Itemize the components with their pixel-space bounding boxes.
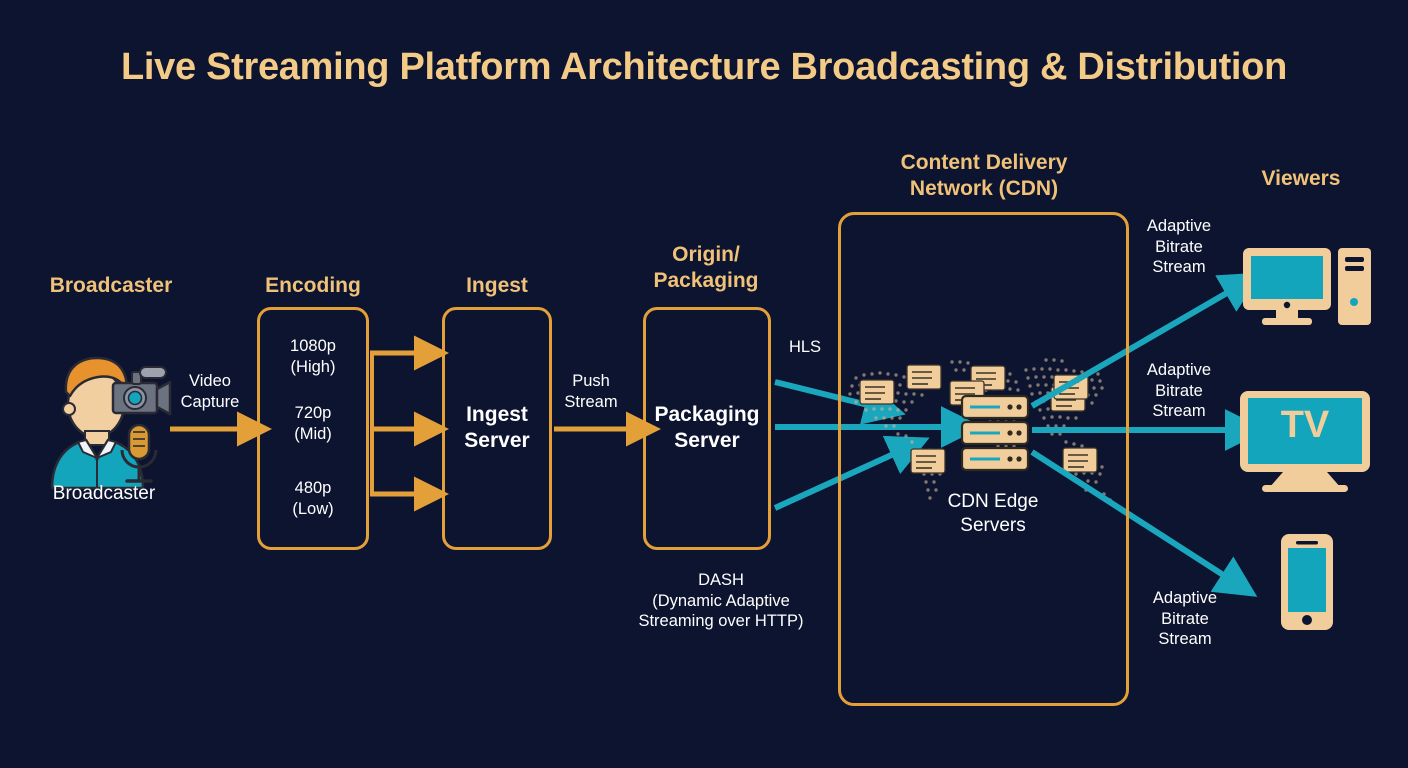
ingest-heading: Ingest [406, 273, 588, 299]
abs-tv-line1: Adaptive [1134, 360, 1224, 381]
cdn-heading: Content Delivery Network (CDN) [858, 150, 1110, 201]
push-stream-line1: Push [549, 371, 633, 392]
packaging-server-line1: Packaging [638, 402, 776, 428]
push-stream-label: Push Stream [549, 371, 633, 412]
desktop-computer-icon [1243, 248, 1371, 325]
adaptive-bitrate-stream-desktop: Adaptive Bitrate Stream [1134, 216, 1224, 278]
hls-label: HLS [774, 337, 836, 358]
packaging-server-label: Packaging Server [638, 402, 776, 454]
rendition-1080p: 1080p (High) [258, 336, 368, 377]
rendition-480p: 480p (Low) [258, 478, 368, 519]
video-capture-label: Video Capture [168, 371, 252, 412]
abs-tv-line2: Bitrate [1134, 381, 1224, 402]
broadcaster-caption: Broadcaster [14, 482, 194, 506]
viewers-heading: Viewers [1208, 166, 1394, 192]
dash-line1: DASH [598, 570, 844, 591]
rendition-480p-res: 480p [258, 478, 368, 499]
dash-line2: (Dynamic Adaptive [598, 591, 844, 612]
cdn-heading-line2: Network (CDN) [858, 176, 1110, 202]
tv-screen-text: TV [1240, 404, 1370, 447]
cdn-edge-line1: CDN Edge [890, 490, 1096, 514]
rendition-1080p-quality: (High) [258, 357, 368, 378]
cdn-heading-line1: Content Delivery [858, 150, 1110, 176]
rendition-720p-quality: (Mid) [258, 424, 368, 445]
packaging-server-line2: Server [638, 428, 776, 454]
abs-mobile-line3: Stream [1140, 629, 1230, 650]
ingest-server-line2: Server [442, 428, 552, 454]
abs-desktop-line3: Stream [1134, 257, 1224, 278]
adaptive-bitrate-stream-mobile: Adaptive Bitrate Stream [1140, 588, 1230, 650]
video-capture-line2: Capture [168, 392, 252, 413]
rendition-720p: 720p (Mid) [258, 403, 368, 444]
adaptive-bitrate-stream-tv: Adaptive Bitrate Stream [1134, 360, 1224, 422]
broadcaster-person-camera-mic-icon [52, 358, 170, 488]
video-capture-line1: Video [168, 371, 252, 392]
abs-tv-line3: Stream [1134, 401, 1224, 422]
rendition-480p-quality: (Low) [258, 499, 368, 520]
abs-desktop-line2: Bitrate [1134, 237, 1224, 258]
origin-heading-line1: Origin/ [615, 242, 797, 268]
encoding-heading: Encoding [222, 273, 404, 299]
diagram-canvas: Live Streaming Platform Architecture Bro… [0, 0, 1408, 768]
rendition-1080p-res: 1080p [258, 336, 368, 357]
abs-desktop-line1: Adaptive [1134, 216, 1224, 237]
dash-label: DASH (Dynamic Adaptive Streaming over HT… [598, 570, 844, 632]
origin-heading-line2: Packaging [615, 268, 797, 294]
ingest-server-line1: Ingest [442, 402, 552, 428]
ingest-server-label: Ingest Server [442, 402, 552, 454]
abs-mobile-line2: Bitrate [1140, 609, 1230, 630]
rendition-720p-res: 720p [258, 403, 368, 424]
cdn-edge-line2: Servers [890, 514, 1096, 538]
smartphone-icon [1281, 534, 1333, 630]
page-title: Live Streaming Platform Architecture Bro… [0, 46, 1408, 89]
abs-mobile-line1: Adaptive [1140, 588, 1230, 609]
origin-packaging-heading: Origin/ Packaging [615, 242, 797, 293]
push-stream-line2: Stream [549, 392, 633, 413]
cdn-boundary-box [838, 212, 1129, 706]
broadcaster-heading: Broadcaster [20, 273, 202, 299]
dash-line3: Streaming over HTTP) [598, 611, 844, 632]
cdn-edge-servers-label: CDN Edge Servers [890, 490, 1096, 538]
